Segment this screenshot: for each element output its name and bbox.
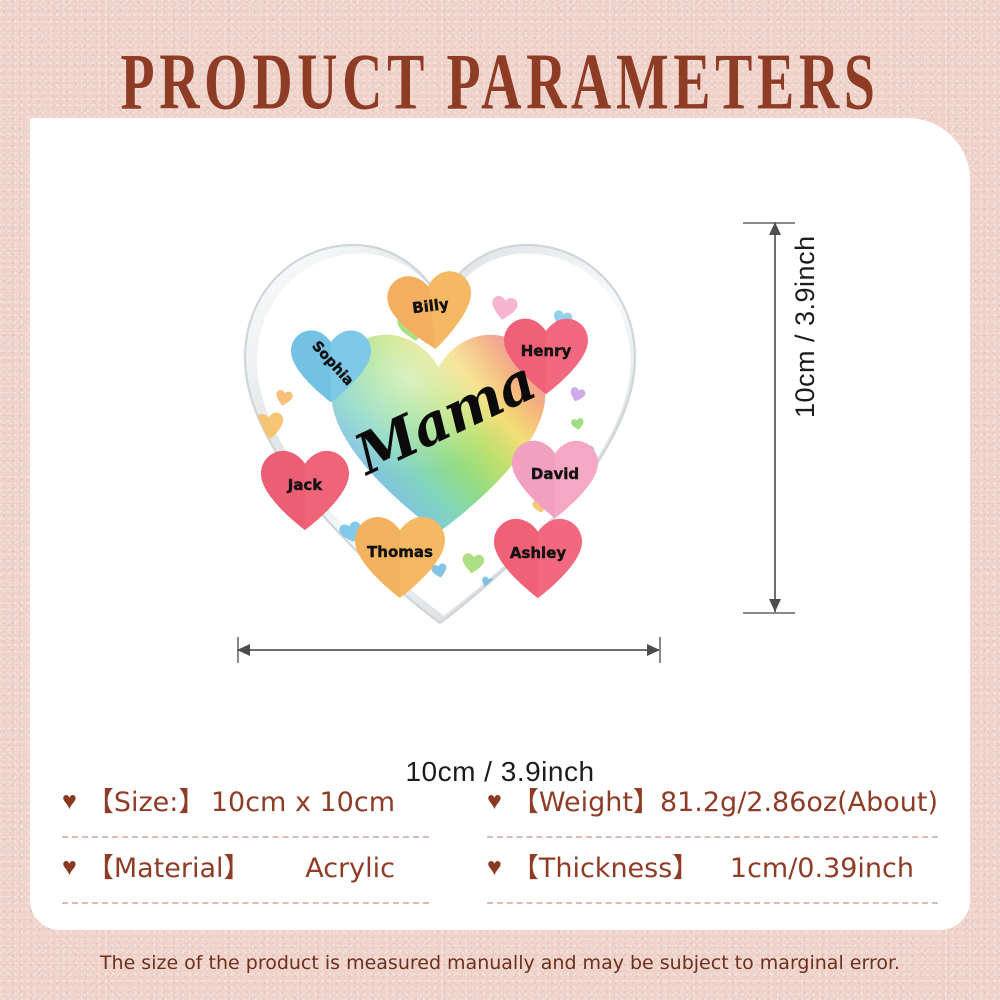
- heart-icon: ♥: [487, 789, 502, 814]
- heart-icon: [287, 325, 375, 405]
- row-divider: [487, 836, 938, 838]
- param-label: 【Size:】: [87, 780, 206, 819]
- param-value: 1cm/0.39inch: [730, 853, 914, 884]
- heart-icon: [350, 511, 450, 601]
- product-illustration: Billy Sophia Henry: [30, 118, 970, 718]
- name-heart-billy: Billy: [380, 263, 482, 358]
- heart-icon: [257, 445, 353, 533]
- row-divider: [487, 902, 938, 904]
- param-value: 81.2g/2.86oz(About): [660, 787, 938, 818]
- page-title: PRODUCT PARAMETERS: [35, 36, 965, 128]
- heart-icon: [380, 263, 482, 358]
- heart-icon: ♥: [487, 855, 502, 880]
- parameters-table: ♥ 【Size:】 10cm x 10cm ♥ 【Material】 Acryl…: [30, 766, 970, 912]
- heart-icon: [508, 435, 602, 521]
- parameters-column-left: ♥ 【Size:】 10cm x 10cm ♥ 【Material】 Acryl…: [62, 766, 429, 912]
- param-row-size: ♥ 【Size:】 10cm x 10cm: [62, 780, 429, 834]
- param-value: 10cm x 10cm: [211, 787, 395, 818]
- row-divider: [62, 836, 429, 838]
- dim-h-right-tick: [659, 637, 661, 663]
- dim-v-bottom-tick: [743, 612, 795, 614]
- content-card: Billy Sophia Henry: [30, 118, 970, 930]
- param-label: 【Weight】: [512, 780, 660, 819]
- param-label: 【Material】: [87, 846, 251, 885]
- param-label: 【Thickness】: [512, 846, 699, 885]
- name-heart-thomas: Thomas: [350, 511, 450, 601]
- param-value: Acrylic: [305, 853, 395, 884]
- name-heart-sophia: Sophia: [287, 325, 375, 405]
- param-row-material: ♥ 【Material】 Acrylic: [62, 846, 429, 900]
- param-row-weight: ♥ 【Weight】 81.2g/2.86oz(About): [487, 780, 938, 834]
- heart-icon: [490, 513, 586, 601]
- name-heart-david: David: [508, 435, 602, 521]
- acrylic-heart-plaque: Billy Sophia Henry: [225, 213, 655, 633]
- name-heart-jack: Jack: [257, 445, 353, 533]
- dim-h-arrow-left: [237, 644, 250, 656]
- footer-disclaimer: The size of the product is measured manu…: [0, 952, 1000, 974]
- dim-v-arrow-up: [769, 222, 781, 235]
- name-heart-ashley: Ashley: [490, 513, 586, 601]
- heart-icon: ♥: [62, 789, 77, 814]
- row-divider: [62, 902, 429, 904]
- parameters-column-right: ♥ 【Weight】 81.2g/2.86oz(About) ♥ 【Thickn…: [487, 766, 938, 912]
- heart-icon: ♥: [62, 855, 77, 880]
- dim-v-arrow-down: [769, 599, 781, 612]
- dim-h-line: [237, 649, 660, 651]
- param-row-thickness: ♥ 【Thickness】 1cm/0.39inch: [487, 846, 938, 900]
- dim-v-line: [774, 222, 776, 612]
- dim-height-label: 10cm / 3.9inch: [790, 235, 821, 418]
